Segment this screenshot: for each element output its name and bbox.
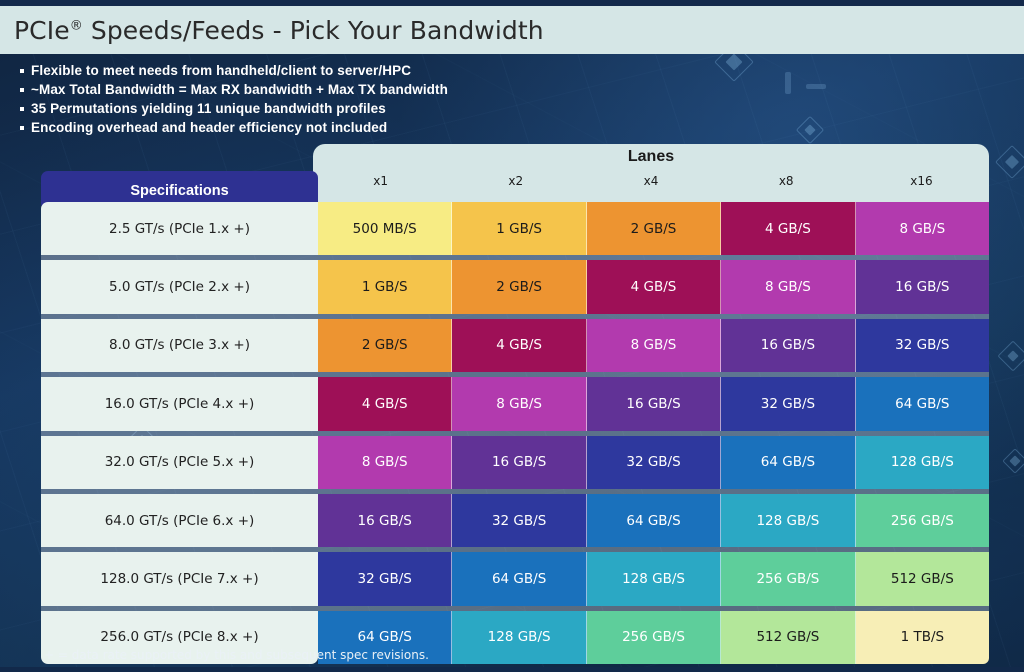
table-row: 2.5 GT/s (PCIe 1.x +)500 MB/S1 GB/S2 GB/… — [41, 202, 989, 255]
bullet-list: Flexible to meet needs from handheld/cli… — [16, 62, 736, 138]
bandwidth-cells: 2 GB/S4 GB/S8 GB/S16 GB/S32 GB/S — [318, 319, 989, 372]
bandwidth-cell: 128 GB/S — [587, 552, 721, 605]
list-item: Encoding overhead and header efficiency … — [16, 119, 736, 137]
bandwidth-cells: 4 GB/S8 GB/S16 GB/S32 GB/S64 GB/S — [318, 377, 989, 430]
table-row: 5.0 GT/s (PCIe 2.x +)1 GB/S2 GB/S4 GB/S8… — [41, 260, 989, 313]
bandwidth-cell: 4 GB/S — [318, 377, 452, 430]
bandwidth-cell: 1 GB/S — [452, 202, 586, 255]
bandwidth-cells: 32 GB/S64 GB/S128 GB/S256 GB/S512 GB/S — [318, 552, 989, 605]
bandwidth-cell: 64 GB/S — [856, 377, 989, 430]
list-item: 35 Permutations yielding 11 unique bandw… — [16, 100, 736, 118]
column-header-x4: x4 — [583, 174, 718, 200]
bandwidth-table: Lanes x1 x2 x4 x8 x16 Specifications 2.5… — [41, 144, 989, 629]
spec-cell: 8.0 GT/s (PCIe 3.x +) — [41, 319, 318, 372]
bandwidth-cell: 256 GB/S — [856, 494, 989, 547]
bullet-square-icon — [20, 88, 24, 92]
table-row: 16.0 GT/s (PCIe 4.x +)4 GB/S8 GB/S16 GB/… — [41, 377, 989, 430]
bandwidth-cell: 8 GB/S — [318, 436, 452, 489]
page-title-main: PCIe — [14, 16, 70, 45]
column-header-x1: x1 — [313, 174, 448, 200]
bandwidth-cell: 1 GB/S — [318, 260, 452, 313]
spec-cell: 16.0 GT/s (PCIe 4.x +) — [41, 377, 318, 430]
spec-cell: 128.0 GT/s (PCIe 7.x +) — [41, 552, 318, 605]
bandwidth-cell: 32 GB/S — [856, 319, 989, 372]
bandwidth-cells: 8 GB/S16 GB/S32 GB/S64 GB/S128 GB/S — [318, 436, 989, 489]
bandwidth-cell: 32 GB/S — [318, 552, 452, 605]
bandwidth-cell: 16 GB/S — [587, 377, 721, 430]
bandwidth-cell: 128 GB/S — [452, 611, 586, 664]
bandwidth-cell: 500 MB/S — [318, 202, 452, 255]
table-row: 128.0 GT/s (PCIe 7.x +)32 GB/S64 GB/S128… — [41, 552, 989, 605]
table-body: 2.5 GT/s (PCIe 1.x +)500 MB/S1 GB/S2 GB/… — [41, 202, 989, 629]
bullet-square-icon — [20, 107, 24, 111]
bandwidth-cell: 64 GB/S — [721, 436, 855, 489]
bandwidth-cell: 16 GB/S — [721, 319, 855, 372]
bullet-text: Encoding overhead and header efficiency … — [31, 119, 387, 137]
bullet-square-icon — [20, 69, 24, 73]
bullet-text: 35 Permutations yielding 11 unique bandw… — [31, 100, 386, 118]
spec-cell: 5.0 GT/s (PCIe 2.x +) — [41, 260, 318, 313]
spec-cell: 32.0 GT/s (PCIe 5.x +) — [41, 436, 318, 489]
bandwidth-cell: 4 GB/S — [721, 202, 855, 255]
column-header-x2: x2 — [448, 174, 583, 200]
page-title: PCIe® Speeds/Feeds - Pick Your Bandwidth — [0, 16, 544, 45]
bandwidth-cell: 2 GB/S — [587, 202, 721, 255]
bottom-accent-bar — [0, 667, 1024, 672]
bullet-text: Flexible to meet needs from handheld/cli… — [31, 62, 411, 80]
title-band: PCIe® Speeds/Feeds - Pick Your Bandwidth — [0, 6, 1024, 54]
registered-trademark-symbol: ® — [70, 18, 83, 33]
bullet-square-icon — [20, 126, 24, 130]
bandwidth-cell: 8 GB/S — [721, 260, 855, 313]
lane-column-headers: x1 x2 x4 x8 x16 — [313, 174, 989, 200]
bandwidth-cell: 64 GB/S — [452, 552, 586, 605]
page-title-rest: Speeds/Feeds - Pick Your Bandwidth — [83, 16, 544, 45]
bandwidth-cell: 16 GB/S — [452, 436, 586, 489]
decor-bar — [785, 72, 791, 94]
column-header-x16: x16 — [854, 174, 989, 200]
bandwidth-cell: 32 GB/S — [587, 436, 721, 489]
table-row: 32.0 GT/s (PCIe 5.x +)8 GB/S16 GB/S32 GB… — [41, 436, 989, 489]
specifications-header-label: Specifications — [130, 183, 228, 199]
bandwidth-cell: 128 GB/S — [721, 494, 855, 547]
bandwidth-cell: 4 GB/S — [587, 260, 721, 313]
bandwidth-cell: 8 GB/S — [856, 202, 989, 255]
bandwidth-cell: 16 GB/S — [318, 494, 452, 547]
bandwidth-cell: 2 GB/S — [318, 319, 452, 372]
bandwidth-cell: 512 GB/S — [721, 611, 855, 664]
list-item: ~Max Total Bandwidth = Max RX bandwidth … — [16, 81, 736, 99]
bandwidth-cells: 500 MB/S1 GB/S2 GB/S4 GB/S8 GB/S — [318, 202, 989, 255]
bandwidth-cell: 64 GB/S — [587, 494, 721, 547]
bandwidth-cell: 16 GB/S — [856, 260, 989, 313]
bullet-text: ~Max Total Bandwidth = Max RX bandwidth … — [31, 81, 448, 99]
bandwidth-cell: 32 GB/S — [452, 494, 586, 547]
bandwidth-cell: 32 GB/S — [721, 377, 855, 430]
bandwidth-cells: 1 GB/S2 GB/S4 GB/S8 GB/S16 GB/S — [318, 260, 989, 313]
bandwidth-cell: 256 GB/S — [721, 552, 855, 605]
bandwidth-cell: 1 TB/S — [856, 611, 989, 664]
bandwidth-cell: 128 GB/S — [856, 436, 989, 489]
bandwidth-cells: 16 GB/S32 GB/S64 GB/S128 GB/S256 GB/S — [318, 494, 989, 547]
footnote: + = data rate supported by this and subs… — [44, 648, 429, 662]
column-header-x8: x8 — [719, 174, 854, 200]
decor-bar — [806, 84, 826, 89]
lanes-header-label: Lanes — [313, 148, 989, 166]
bandwidth-cell: 256 GB/S — [587, 611, 721, 664]
bandwidth-cell: 4 GB/S — [452, 319, 586, 372]
table-row: 64.0 GT/s (PCIe 6.x +)16 GB/S32 GB/S64 G… — [41, 494, 989, 547]
spec-cell: 64.0 GT/s (PCIe 6.x +) — [41, 494, 318, 547]
bandwidth-cell: 2 GB/S — [452, 260, 586, 313]
table-row: 8.0 GT/s (PCIe 3.x +)2 GB/S4 GB/S8 GB/S1… — [41, 319, 989, 372]
bandwidth-cell: 512 GB/S — [856, 552, 989, 605]
list-item: Flexible to meet needs from handheld/cli… — [16, 62, 736, 80]
bandwidth-cell: 8 GB/S — [452, 377, 586, 430]
bandwidth-cell: 8 GB/S — [587, 319, 721, 372]
slide: PCIe® Speeds/Feeds - Pick Your Bandwidth… — [0, 0, 1024, 672]
spec-cell: 2.5 GT/s (PCIe 1.x +) — [41, 202, 318, 255]
